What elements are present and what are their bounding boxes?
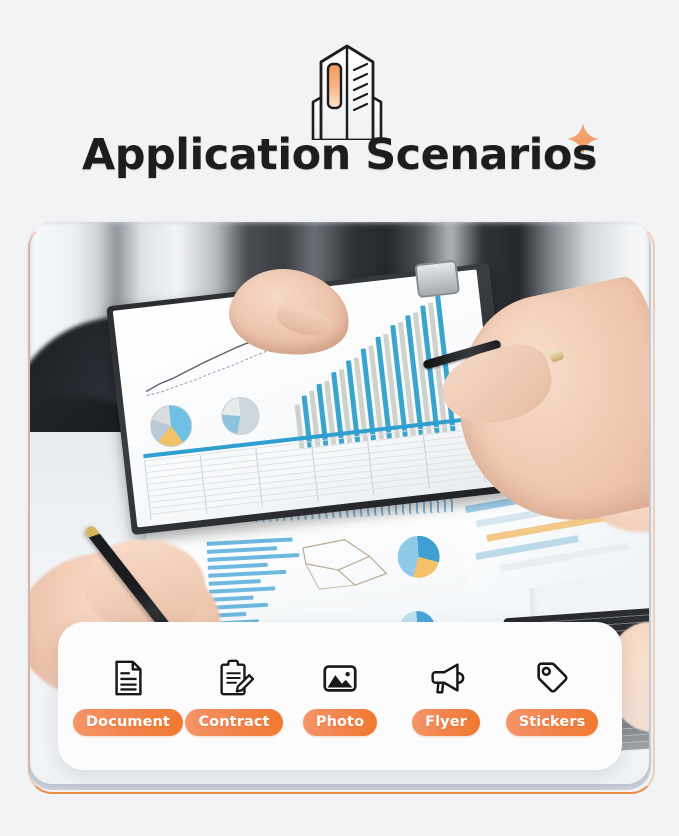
page-root: Application Scenarios: [0, 0, 679, 836]
badge-label-document: Document: [73, 709, 183, 736]
report-pie-chart-2: [219, 395, 261, 437]
badge-label-flyer: Flyer: [412, 709, 480, 736]
page-title: Application Scenarios: [0, 130, 679, 180]
image-icon: [319, 657, 361, 699]
badge-label-stickers: Stickers: [506, 709, 599, 736]
badge-photo[interactable]: Photo: [288, 657, 392, 736]
clipboard-clip: [414, 260, 460, 299]
megaphone-icon: [425, 657, 467, 699]
price-tag-icon: [531, 657, 573, 699]
document-icon: [107, 657, 149, 699]
report-pie-chart-1: [148, 403, 194, 449]
clipboard-pen-icon: [213, 657, 255, 699]
badge-label-contract: Contract: [185, 709, 282, 736]
scenario-badges-card: Document Contract: [58, 622, 622, 770]
badge-flyer[interactable]: Flyer: [394, 657, 498, 736]
badge-label-photo: Photo: [303, 709, 377, 736]
page-header: Application Scenarios: [0, 0, 679, 212]
building-icon: [287, 40, 407, 140]
badge-contract[interactable]: Contract: [182, 657, 286, 736]
sheet-network-diagram: [296, 532, 409, 600]
badge-stickers[interactable]: Stickers: [500, 657, 604, 736]
badge-document[interactable]: Document: [76, 657, 180, 736]
